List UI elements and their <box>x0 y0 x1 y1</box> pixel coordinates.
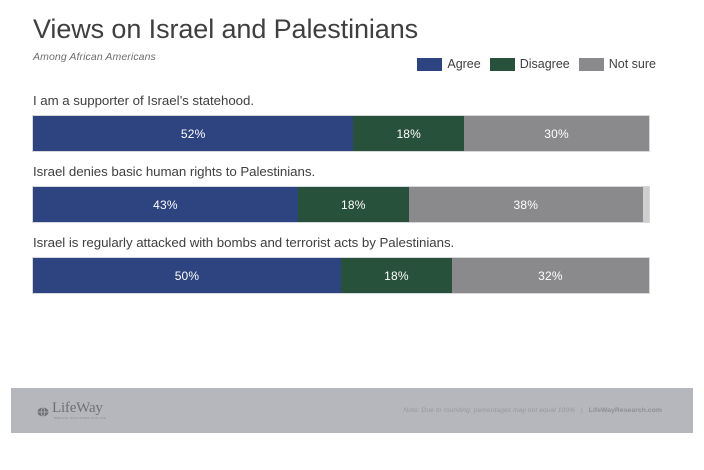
logo-text-wrap: LifeWay BIBLICAL SOLUTIONS FOR LIFE <box>52 401 106 421</box>
bar-segment-value: 52% <box>181 128 206 140</box>
legend-swatch-icon <box>417 58 442 71</box>
bar-segment-value: 30% <box>544 128 569 140</box>
legend-swatch-icon <box>579 58 604 71</box>
bar-segment-agree[interactable]: 43% <box>33 187 298 222</box>
stacked-bar: 43%18%38% <box>33 187 649 222</box>
chart-rows: I am a supporter of Israel’s statehood.5… <box>33 93 649 306</box>
stacked-bar: 50%18%32% <box>33 258 649 293</box>
bar-segment-disagree[interactable]: 18% <box>298 187 409 222</box>
legend-item-disagree[interactable]: Disagree <box>490 58 570 71</box>
legend-item-agree[interactable]: Agree <box>417 58 480 71</box>
legend-label: Agree <box>447 58 480 71</box>
bar-segment-value: 18% <box>341 199 366 211</box>
lifeway-logo: LifeWay BIBLICAL SOLUTIONS FOR LIFE <box>37 401 106 421</box>
bar-segment-value: 18% <box>396 128 421 140</box>
bar-segment-not-sure[interactable]: 30% <box>464 116 649 151</box>
bar-segment-disagree[interactable]: 18% <box>341 258 452 293</box>
bar-segment-disagree[interactable]: 18% <box>353 116 464 151</box>
bar-segment-value: 43% <box>153 199 178 211</box>
chart-row: Israel is regularly attacked with bombs … <box>33 235 649 293</box>
research-site-link[interactable]: LifeWayResearch.com <box>589 407 662 414</box>
bar-segment-not-sure[interactable]: 38% <box>409 187 643 222</box>
header: Views on Israel and Palestinians Among A… <box>33 14 664 63</box>
logo-wordmark: LifeWay <box>52 401 106 416</box>
footer-note: Note: Due to rounding, percentages may n… <box>403 407 662 414</box>
infographic-card: Views on Israel and Palestinians Among A… <box>0 0 704 470</box>
question-label: Israel denies basic human rights to Pale… <box>33 164 649 179</box>
legend-item-not-sure[interactable]: Not sure <box>579 58 656 71</box>
legend-swatch-icon <box>490 58 515 71</box>
bar-segment-agree[interactable]: 50% <box>33 258 341 293</box>
chart-legend: AgreeDisagreeNot sure <box>417 58 656 71</box>
question-label: I am a supporter of Israel’s statehood. <box>33 93 649 108</box>
bar-segment-value: 32% <box>538 270 563 282</box>
bar-segment-not-sure[interactable]: 32% <box>452 258 649 293</box>
question-label: Israel is regularly attacked with bombs … <box>33 235 649 250</box>
stacked-bar: 52%18%30% <box>33 116 649 151</box>
logo-tagline: BIBLICAL SOLUTIONS FOR LIFE <box>54 417 106 420</box>
note-divider: | <box>581 407 583 414</box>
footer-band: LifeWay BIBLICAL SOLUTIONS FOR LIFE Note… <box>11 388 693 433</box>
legend-label: Disagree <box>520 58 570 71</box>
bar-segment-value: 50% <box>175 270 200 282</box>
page-title: Views on Israel and Palestinians <box>33 14 664 44</box>
chart-row: Israel denies basic human rights to Pale… <box>33 164 649 222</box>
globe-icon <box>37 405 49 417</box>
rounding-note: Note: Due to rounding, percentages may n… <box>403 407 575 414</box>
bar-segment-value: 38% <box>513 199 538 211</box>
bar-segment-value: 18% <box>384 270 409 282</box>
chart-row: I am a supporter of Israel’s statehood.5… <box>33 93 649 151</box>
legend-label: Not sure <box>609 58 656 71</box>
bar-segment-agree[interactable]: 52% <box>33 116 353 151</box>
